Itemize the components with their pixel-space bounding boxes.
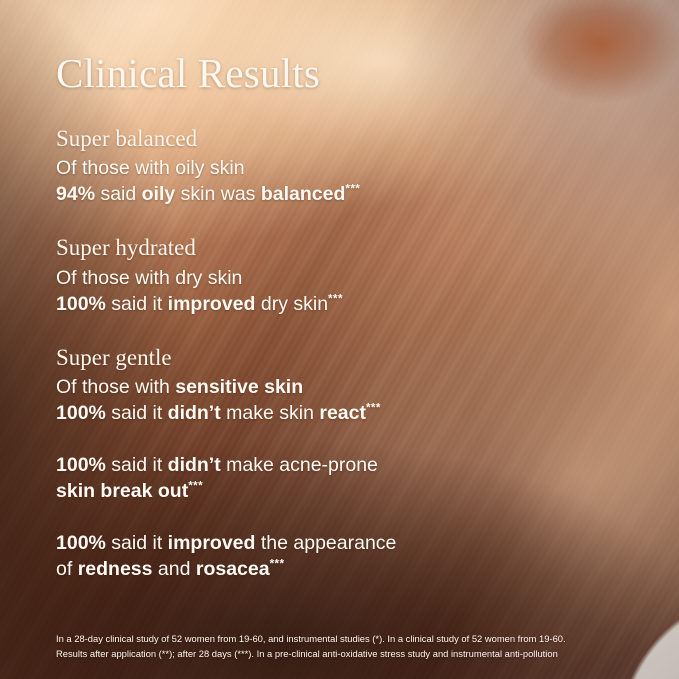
footnote-marker: *** (328, 292, 343, 305)
statement-acne-prone: 100% said it didn’t make acne-prone skin… (56, 453, 623, 505)
emphasis-text: react (319, 402, 366, 424)
footnote-marker: *** (188, 479, 203, 492)
poster-content: Clinical Results Super balanced Of those… (0, 0, 679, 679)
emphasis-text: sensitive skin (175, 376, 303, 398)
clinical-results-poster: Clinical Results Super balanced Of those… (0, 0, 679, 679)
section-super-gentle: Super gentle Of those with sensitive ski… (56, 344, 623, 427)
emphasis-text: balanced (261, 183, 346, 205)
statement-redness-rosacea: 100% said it improved the appearance of … (56, 531, 623, 583)
section-super-hydrated: Super hydrated Of those with dry skin 10… (56, 234, 623, 317)
section-line: 100% said it didn’t make skin react*** (56, 401, 623, 427)
emphasis-text: 100% (56, 532, 106, 554)
footnote-line-2: Results after application (**); after 28… (56, 647, 663, 661)
footnote-marker: *** (366, 402, 381, 415)
plain-text: the appearance (255, 532, 396, 554)
footnote: In a 28-day clinical study of 52 women f… (56, 632, 663, 661)
plain-text: make skin (221, 402, 320, 424)
page-title: Clinical Results (56, 52, 623, 95)
emphasis-text: oily (142, 183, 176, 205)
section-heading: Super balanced (56, 125, 623, 153)
section-line: 100% said it improved dry skin*** (56, 292, 623, 318)
emphasis-text: redness (78, 558, 153, 580)
emphasis-text: 94% (56, 183, 95, 205)
plain-text: said it (106, 532, 168, 554)
emphasis-text: 100% (56, 402, 106, 424)
statement-line: of redness and rosacea*** (56, 557, 623, 583)
statement-line: 100% said it didn’t make acne-prone (56, 453, 623, 479)
footnote-marker: *** (345, 183, 360, 196)
plain-text: of (56, 558, 78, 580)
emphasis-text: improved (168, 532, 256, 554)
emphasis-text: didn’t (168, 402, 221, 424)
plain-text: dry skin (255, 293, 328, 315)
section-super-balanced: Super balanced Of those with oily skin 9… (56, 125, 623, 208)
plain-text: said it (106, 293, 168, 315)
emphasis-text: skin break out (56, 480, 188, 502)
plain-text: make acne-prone (221, 454, 378, 476)
section-line: Of those with dry skin (56, 266, 623, 292)
plain-text: Of those with (56, 376, 175, 398)
emphasis-text: improved (168, 293, 256, 315)
emphasis-text: 100% (56, 293, 106, 315)
emphasis-text: rosacea (196, 558, 270, 580)
section-heading: Super gentle (56, 344, 623, 372)
statement-line: 100% said it improved the appearance (56, 531, 623, 557)
section-line: Of those with oily skin (56, 156, 623, 182)
footnote-marker: *** (270, 557, 285, 570)
plain-text: and (152, 558, 195, 580)
emphasis-text: didn’t (168, 454, 221, 476)
statement-line: skin break out*** (56, 479, 623, 505)
plain-text: skin was (175, 183, 261, 205)
section-line: Of those with sensitive skin (56, 375, 623, 401)
section-heading: Super hydrated (56, 234, 623, 262)
plain-text: said it (106, 402, 168, 424)
plain-text: said (95, 183, 142, 205)
emphasis-text: 100% (56, 454, 106, 476)
footnote-line-1: In a 28-day clinical study of 52 women f… (56, 632, 663, 646)
plain-text: said it (106, 454, 168, 476)
section-line: 94% said oily skin was balanced*** (56, 182, 623, 208)
